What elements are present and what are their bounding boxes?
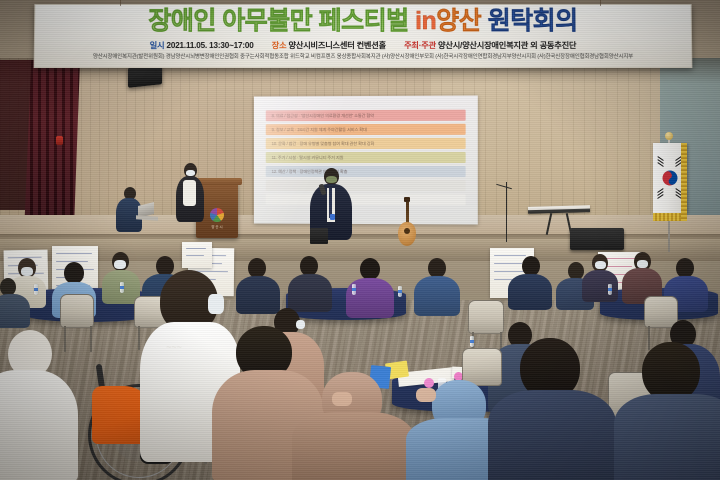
banner-place-label: 장소 bbox=[272, 41, 287, 50]
mic-stand bbox=[506, 182, 507, 242]
fire-alarm-icon bbox=[56, 136, 63, 145]
event-banner: 장애인 아무불만 페스티벌 in양산 원탁회의 일시 2021.11.05. 1… bbox=[34, 4, 693, 68]
banner-organization-list: 양산시장애인복지관(발전위원회) 경남양산시뇌병변장애인인권협회 중구는사회적협… bbox=[1, 52, 720, 60]
banner-date-value: 2021.11.05. 13:30~17:00 bbox=[166, 41, 253, 50]
pa-speaker-left bbox=[310, 228, 328, 244]
water-bottle bbox=[398, 286, 402, 297]
hand bbox=[332, 392, 352, 406]
banner-title-part-4: 원탁회의 bbox=[488, 7, 578, 35]
water-bottle bbox=[34, 284, 38, 295]
flag-fringe-side bbox=[681, 143, 687, 221]
banner-place-value: 양산시비즈니스센터 컨벤션홀 bbox=[288, 41, 385, 50]
hand bbox=[416, 388, 436, 402]
banner-string-left bbox=[120, 0, 121, 6]
banner-title-part-1: 장애인 아무불만 페스티벌 bbox=[148, 7, 408, 35]
taeguk-circle bbox=[660, 168, 681, 189]
podium-emblem-label: 양 산 시 bbox=[211, 224, 222, 229]
flag-finial bbox=[665, 132, 673, 140]
banner-date-label: 일시 bbox=[150, 41, 165, 50]
screen-glare bbox=[254, 95, 478, 224]
banner-subtitle: 일시 2021.11.05. 13:30~17:00 장소 양산시비즈니스센터 … bbox=[35, 39, 691, 51]
projection-screen: 8. 의료 / 접근성 · '양산시장애인 의료환경 개선안' 소통간 협약 9… bbox=[254, 95, 478, 224]
acoustic-guitar-icon bbox=[398, 200, 416, 246]
poster-small bbox=[182, 242, 212, 268]
water-bottle bbox=[470, 336, 474, 347]
banner-title: 장애인 아무불만 페스티벌 in양산 원탁회의 bbox=[35, 9, 691, 34]
city-emblem-icon bbox=[210, 208, 224, 222]
banner-host-label: 주최·주관 bbox=[404, 41, 436, 50]
water-bottle bbox=[352, 284, 356, 295]
banner-title-part-3: 양산 bbox=[436, 7, 481, 35]
water-bottle bbox=[608, 284, 612, 295]
banner-string-right bbox=[600, 0, 601, 6]
photograph-canvas: 장애인 아무불만 페스티벌 in양산 원탁회의 일시 2021.11.05. 1… bbox=[0, 0, 720, 480]
pom-pom bbox=[424, 378, 434, 388]
keyboard-stand bbox=[548, 213, 570, 235]
water-bottle bbox=[120, 282, 124, 293]
banner-title-part-2: in bbox=[415, 7, 436, 35]
pa-speaker-right bbox=[570, 228, 624, 250]
banner-host-value: 양산시/양산시장애인복지관 외 공동추진단 bbox=[438, 41, 576, 50]
